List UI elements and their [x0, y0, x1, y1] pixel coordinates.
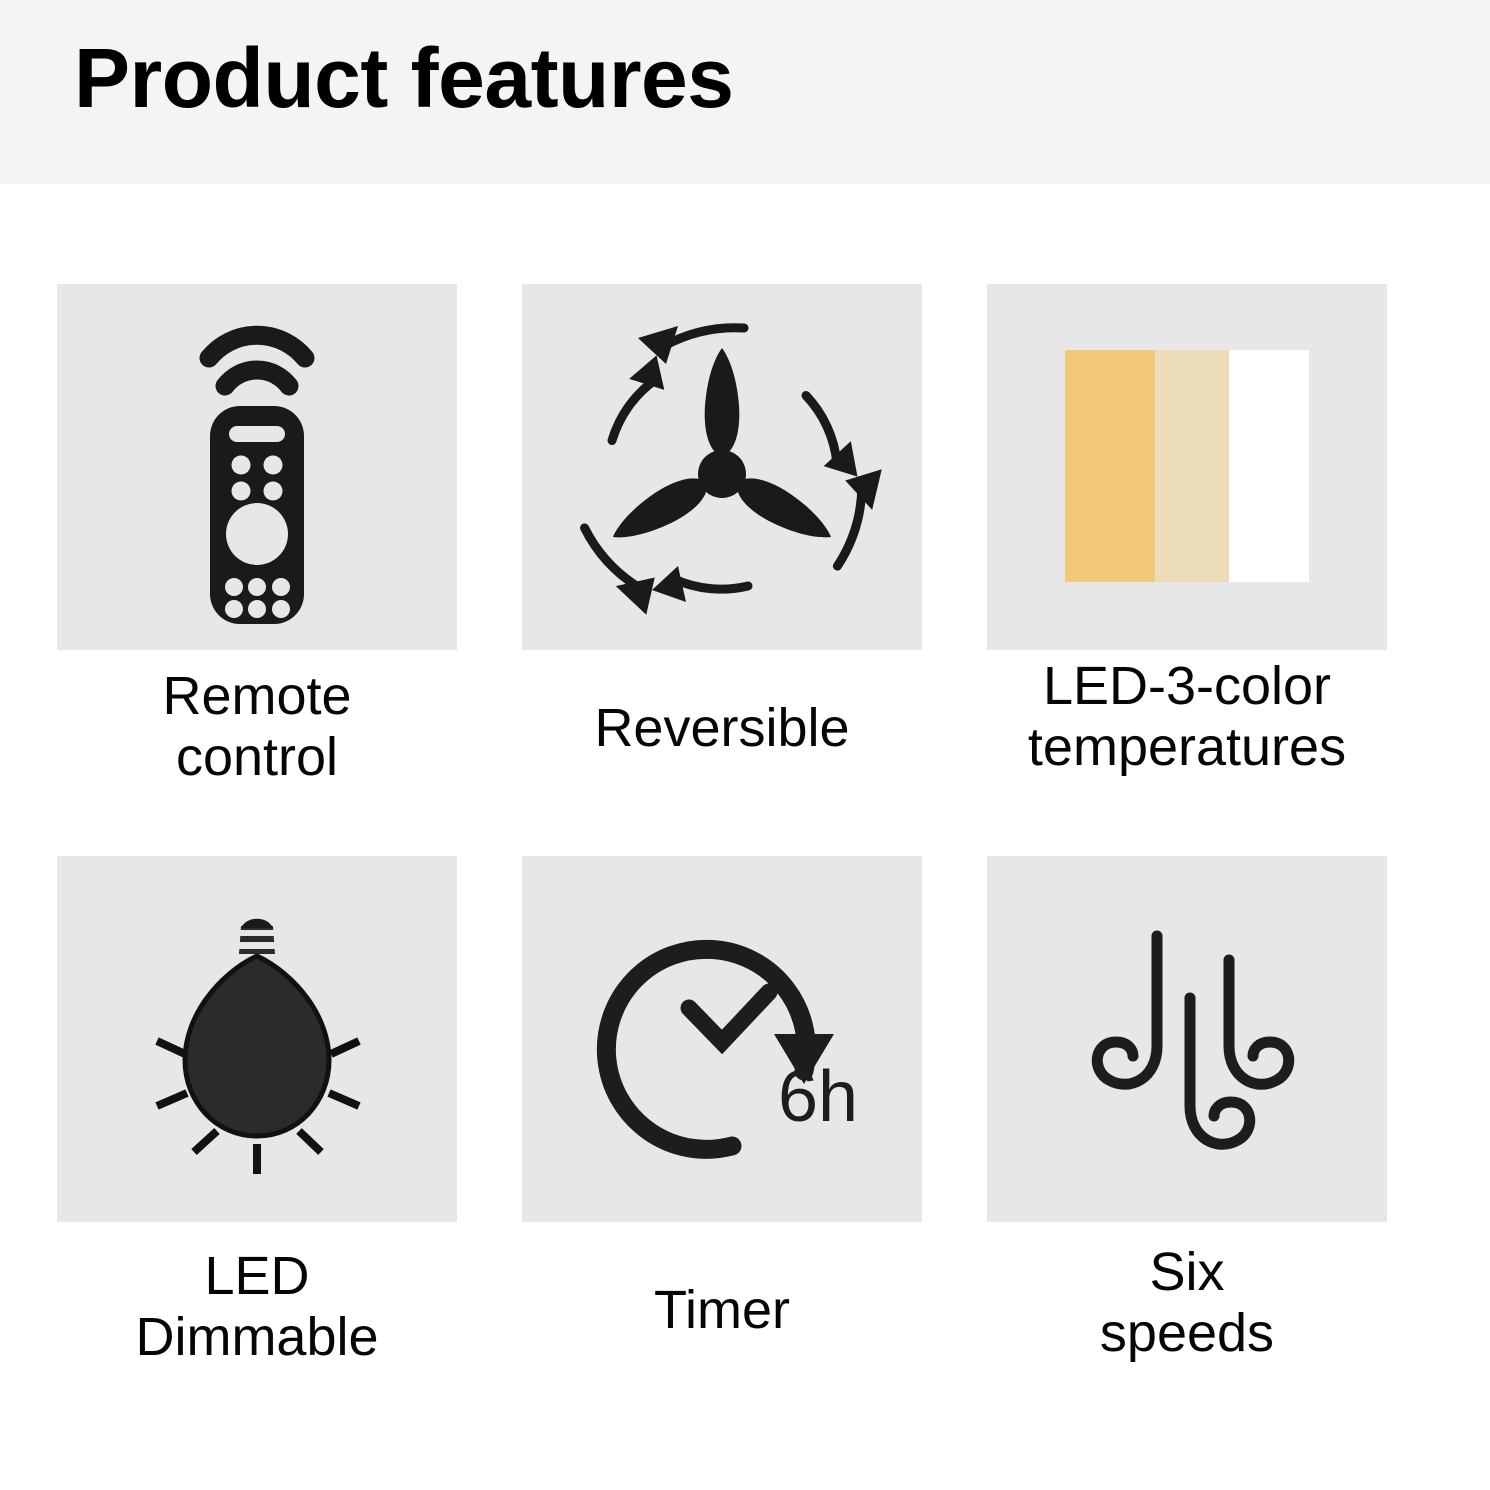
feature-item-remote-control: Remote control	[57, 284, 457, 788]
feature-label: LED-3-color temperatures	[987, 656, 1387, 778]
feature-label: Timer	[522, 1280, 922, 1341]
feature-item-six-speeds: Six speeds	[987, 856, 1387, 1364]
timer-clock-icon: 6h	[522, 856, 922, 1222]
swatch-cool-white	[1229, 350, 1309, 582]
remote-control-icon	[57, 284, 457, 650]
feature-icon-tile	[57, 284, 457, 650]
color-temperature-swatch-icon	[1065, 350, 1309, 582]
feature-item-led-dimmable: LED Dimmable	[57, 856, 457, 1368]
swatch-warm-white	[1065, 350, 1155, 582]
feature-icon-tile	[987, 856, 1387, 1222]
light-bulb-icon	[57, 856, 457, 1222]
feature-item-reversible: Reversible	[522, 284, 922, 759]
features-grid: Remote control	[0, 184, 1490, 1490]
feature-label: Remote control	[57, 666, 457, 788]
feature-icon-tile: 6h	[522, 856, 922, 1222]
swatch-neutral-white	[1155, 350, 1229, 582]
feature-label: Reversible	[522, 698, 922, 759]
airflow-icon	[987, 856, 1387, 1222]
header-band: Product features	[0, 0, 1490, 184]
feature-icon-tile	[57, 856, 457, 1222]
feature-label: Six speeds	[987, 1242, 1387, 1364]
feature-item-led-color-temperatures: LED-3-color temperatures	[987, 284, 1387, 778]
timer-badge-text: 6h	[778, 1057, 858, 1137]
feature-item-timer: 6h Timer	[522, 856, 922, 1341]
feature-label: LED Dimmable	[57, 1246, 457, 1368]
page-title: Product features	[74, 34, 734, 122]
feature-icon-tile	[987, 284, 1387, 650]
feature-icon-tile	[522, 284, 922, 650]
reversible-fan-icon	[522, 284, 922, 650]
